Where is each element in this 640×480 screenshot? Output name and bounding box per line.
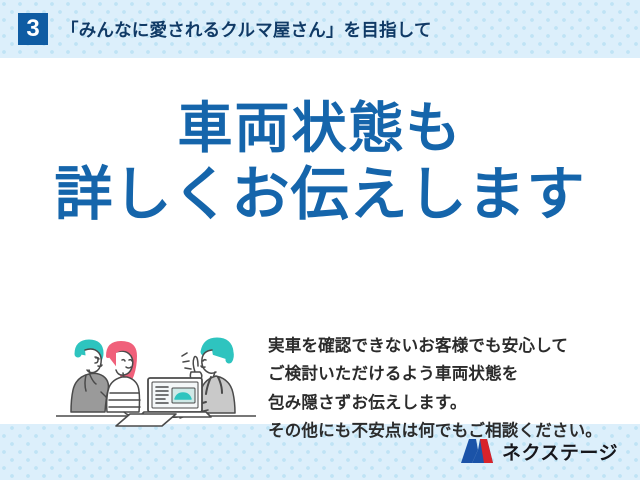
headline-line-2: 詳しくお伝えします — [0, 161, 640, 229]
brand-name: ネクステージ — [502, 438, 618, 465]
body-copy-line-2: ご検討いただけるよう車両状態を — [268, 360, 628, 388]
slide-root: 3 「みんなに愛されるクルマ屋さん」を目指して 車両状態も 詳しくお伝えします — [0, 0, 640, 480]
lower-content: 実車を確認できないお客様でも安心して ご検討いただけるよう車両状態を 包み隠さず… — [0, 274, 640, 424]
consultation-illustration — [56, 330, 256, 438]
footer-bar: ネクステージ — [0, 424, 640, 480]
header-bar: 3 「みんなに愛されるクルマ屋さん」を目指して — [0, 0, 640, 58]
body-copy-line-1: 実車を確認できないお客様でも安心して — [268, 332, 628, 360]
headline: 車両状態も 詳しくお伝えします — [0, 96, 640, 229]
body-copy-line-3: 包み隠さずお伝えします。 — [268, 389, 628, 417]
content-card: 車両状態も 詳しくお伝えします — [0, 58, 640, 424]
brand-lockup: ネクステージ — [460, 436, 618, 466]
consultation-illustration-svg — [56, 330, 256, 438]
header-title: 「みんなに愛されるクルマ屋さん」を目指して — [61, 17, 432, 42]
laptop — [139, 378, 211, 417]
nexstage-n-logo-icon — [460, 438, 494, 464]
step-number-badge: 3 — [18, 13, 48, 45]
customer-woman-figure — [107, 343, 140, 416]
headline-line-1: 車両状態も — [0, 96, 640, 161]
